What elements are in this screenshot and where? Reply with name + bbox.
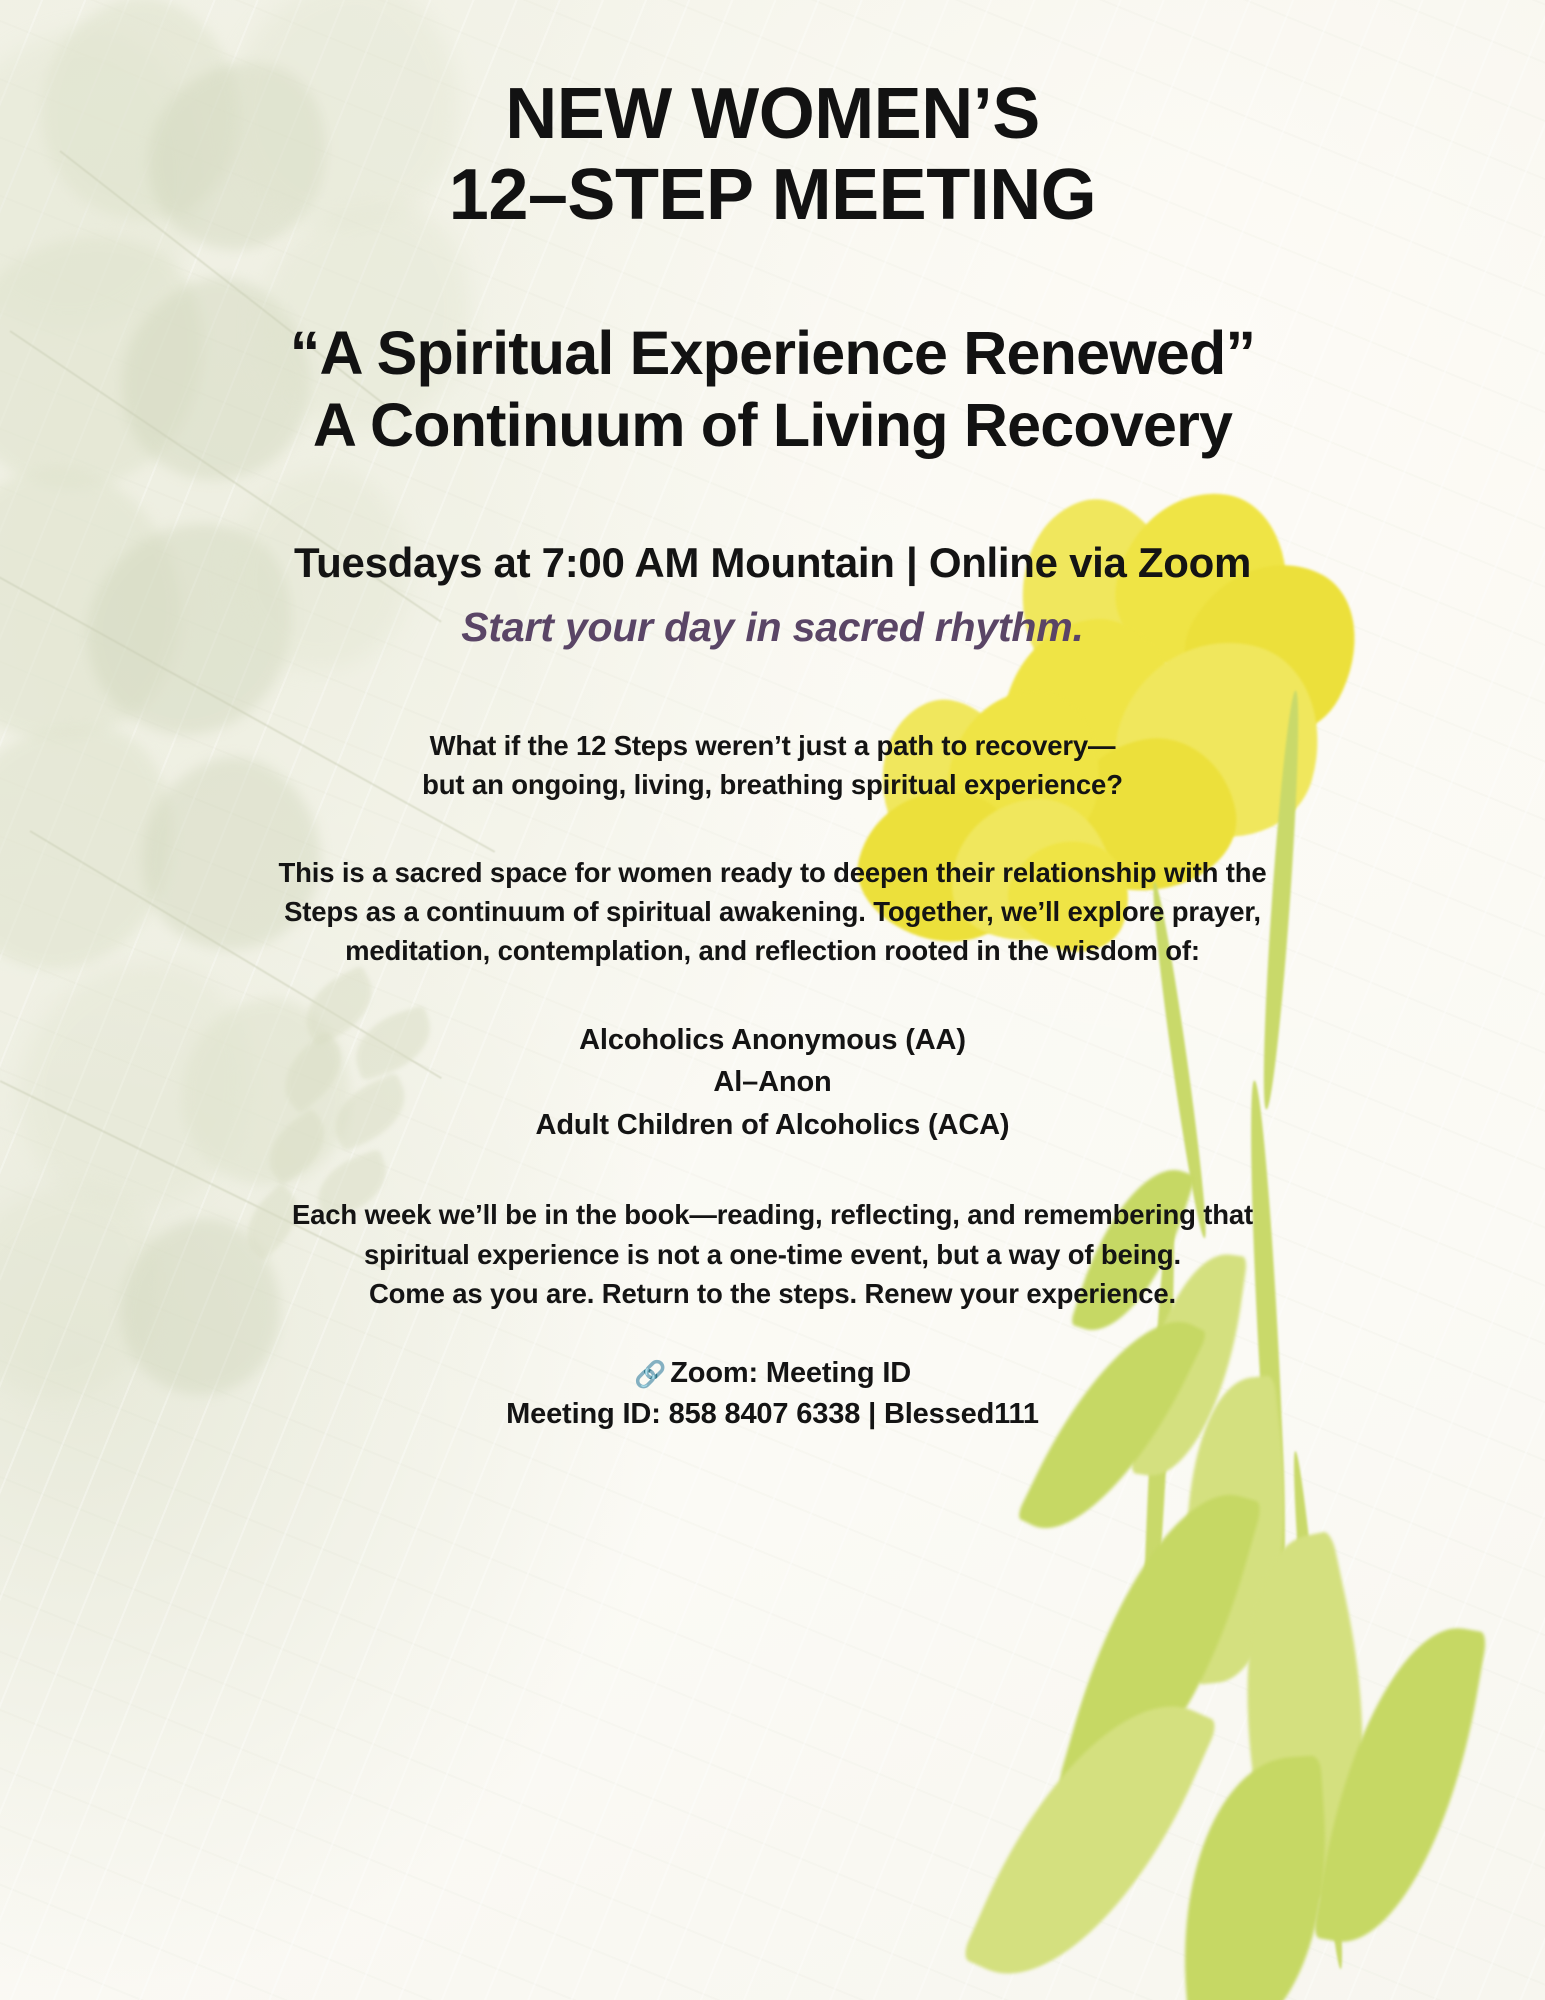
closing-line-1: Each week we’ll be in the book—reading, … xyxy=(233,1195,1313,1234)
heading-line-1: NEW WOMEN’S xyxy=(0,74,1545,155)
paragraph-line-2: Steps as a continuum of spiritual awaken… xyxy=(233,892,1313,931)
fellowship-item: Alcoholics Anonymous (AA) xyxy=(0,1019,1545,1062)
fellowship-item: Adult Children of Alcoholics (ACA) xyxy=(0,1104,1545,1147)
heading-line-2: 12–STEP MEETING xyxy=(0,155,1545,236)
spacer xyxy=(0,971,1545,1019)
sub-heading: “A Spiritual Experience Renewed” A Conti… xyxy=(0,318,1545,462)
link-icon: 🔗 xyxy=(634,1359,666,1389)
subheading-line-2: A Continuum of Living Recovery xyxy=(0,390,1545,462)
schedule-tagline: Start your day in sacred rhythm. xyxy=(0,602,1545,653)
poster-content: NEW WOMEN’S 12–STEP MEETING “A Spiritual… xyxy=(0,0,1545,2000)
fellowship-item: Al–Anon xyxy=(0,1061,1545,1104)
flyer-poster: NEW WOMEN’S 12–STEP MEETING “A Spiritual… xyxy=(0,0,1545,2000)
schedule-block: Tuesdays at 7:00 AM Mountain | Online vi… xyxy=(0,538,1545,654)
meeting-id-line: Meeting ID: 858 8407 6338 | Blessed111 xyxy=(0,1394,1545,1435)
paragraph-line-1: This is a sacred space for women ready t… xyxy=(233,853,1313,892)
spacer xyxy=(0,1313,1545,1353)
zoom-link-row[interactable]: 🔗Zoom: Meeting ID xyxy=(0,1353,1545,1394)
hook-line-1: What if the 12 Steps weren’t just a path… xyxy=(233,726,1313,765)
body-block: What if the 12 Steps weren’t just a path… xyxy=(0,726,1545,1436)
closing-line-2: spiritual experience is not a one-time e… xyxy=(233,1235,1313,1274)
zoom-link-label: Zoom: Meeting ID xyxy=(670,1357,911,1389)
spacer xyxy=(0,805,1545,853)
schedule-when: Tuesdays at 7:00 AM Mountain | Online vi… xyxy=(0,538,1545,588)
main-heading: NEW WOMEN’S 12–STEP MEETING xyxy=(0,74,1545,235)
spacer xyxy=(0,1147,1545,1195)
hook-line-2: but an ongoing, living, breathing spirit… xyxy=(233,765,1313,804)
subheading-line-1: “A Spiritual Experience Renewed” xyxy=(0,318,1545,390)
paragraph-line-3: meditation, contemplation, and reflectio… xyxy=(233,931,1313,970)
closing-line-3: Come as you are. Return to the steps. Re… xyxy=(233,1274,1313,1313)
